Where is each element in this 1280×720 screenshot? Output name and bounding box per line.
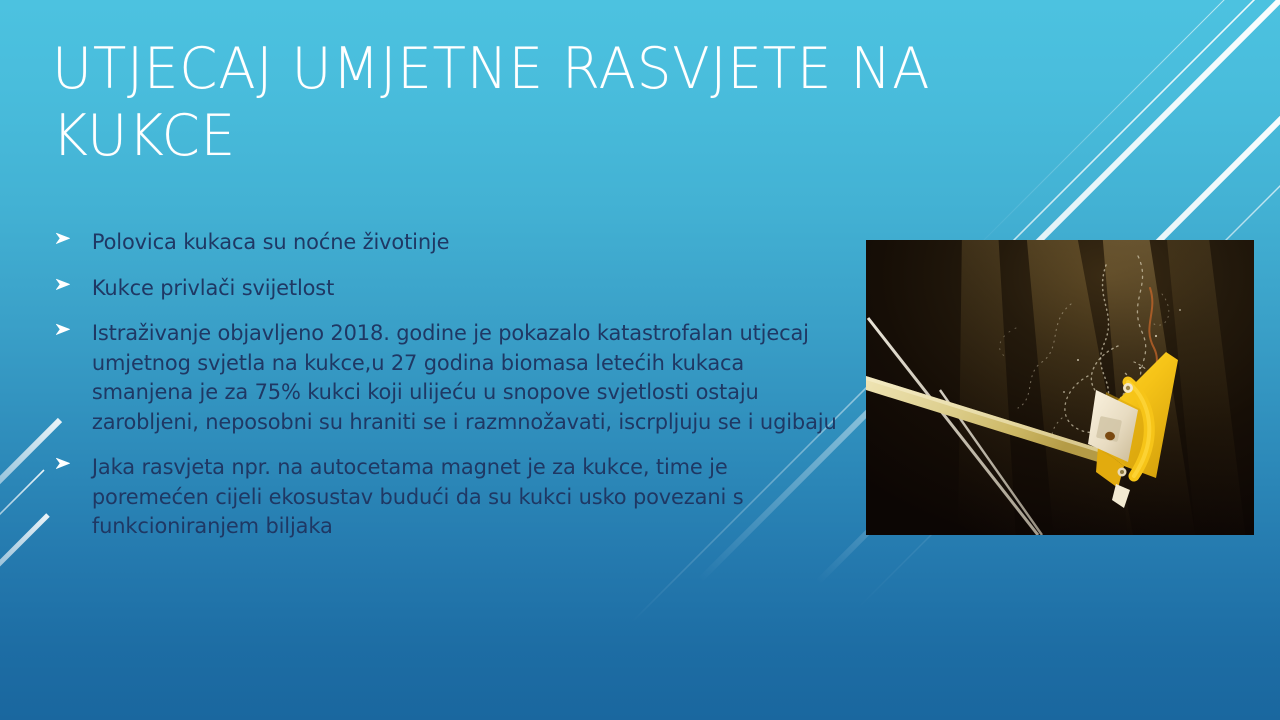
presentation-slide: Utjecaj umjetne rasvjete na kukce Polovi… bbox=[0, 0, 1280, 720]
bullet-text: Kukce privlači svijetlost bbox=[92, 276, 334, 301]
arrowhead-bullet-icon bbox=[54, 229, 79, 255]
arrowhead-bullet-icon bbox=[54, 275, 79, 301]
arrowhead-bullet-icon bbox=[54, 454, 79, 480]
bullet-item-1: Polovica kukaca su noćne životinje bbox=[48, 228, 838, 258]
bullet-item-3: Istraživanje objavljeno 2018. godine je … bbox=[48, 319, 838, 437]
bullet-item-4: Jaka rasvjeta npr. na autocetama magnet … bbox=[48, 453, 838, 542]
bullet-text: Polovica kukaca su noćne životinje bbox=[92, 230, 450, 255]
bullet-text: Istraživanje objavljeno 2018. godine je … bbox=[92, 321, 837, 435]
bullet-item-2: Kukce privlači svijetlost bbox=[48, 274, 838, 304]
slide-title: Utjecaj umjetne rasvjete na kukce bbox=[52, 36, 1022, 169]
street-lamp-at-night-photo bbox=[866, 240, 1254, 535]
bullet-text: Jaka rasvjeta npr. na autocetama magnet … bbox=[92, 455, 744, 539]
arrowhead-bullet-icon bbox=[54, 320, 79, 346]
bullet-list: Polovica kukaca su noćne životinje Kukce… bbox=[48, 228, 858, 542]
